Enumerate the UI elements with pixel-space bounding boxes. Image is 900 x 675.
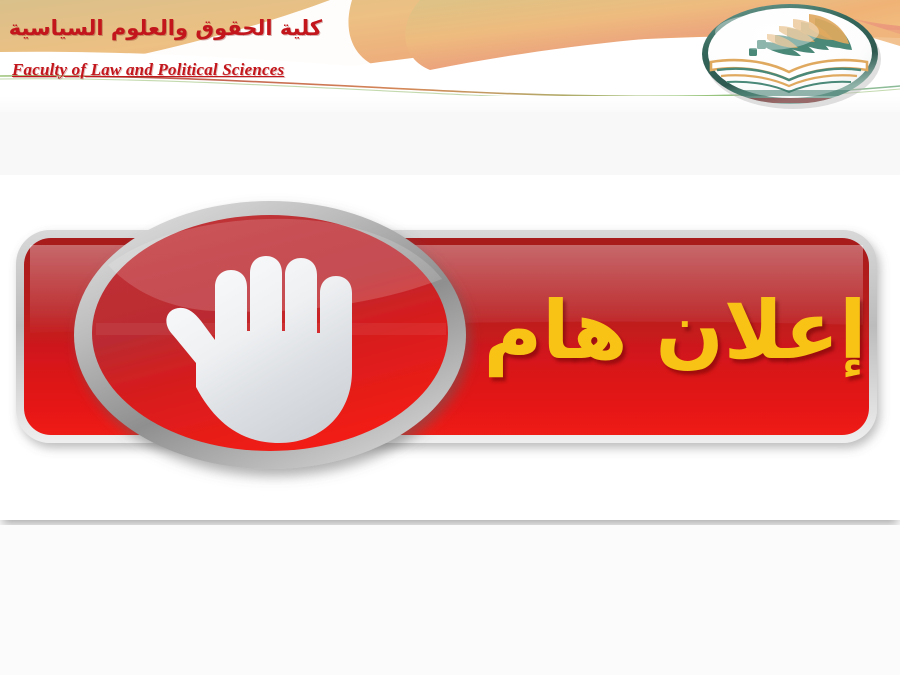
faculty-name-english: Faculty of Law and Political Sciences — [12, 60, 284, 80]
red-alert-banner-graphic — [0, 175, 900, 520]
red-alert-banner — [0, 175, 900, 520]
faculty-name-arabic: كلية الحقوق والعلوم السياسية — [9, 16, 322, 40]
page-header: كلية الحقوق والعلوم السياسية Faculty of … — [0, 0, 900, 112]
slide-body-area — [0, 525, 900, 675]
university-logo — [697, 2, 884, 110]
announcement-image-card: إعلان هام — [0, 175, 900, 520]
slide-root: كلية الحقوق والعلوم السياسية Faculty of … — [0, 0, 900, 675]
university-logo-emblem — [697, 2, 884, 110]
